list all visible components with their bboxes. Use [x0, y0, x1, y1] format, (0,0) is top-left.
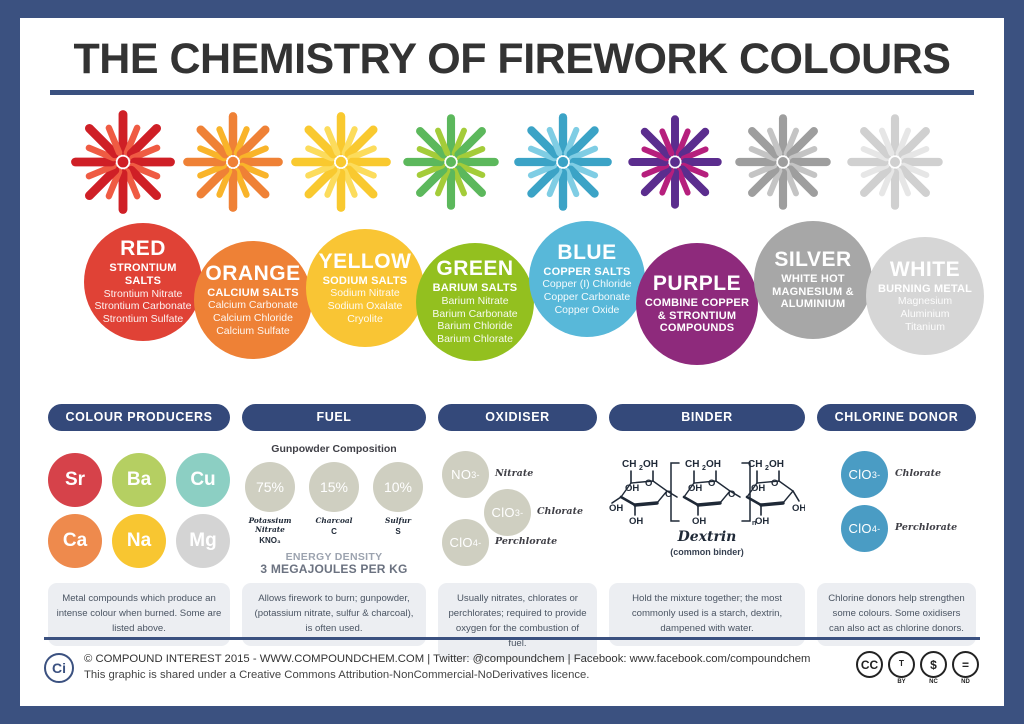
molecule-name: Dextrin — [609, 529, 805, 545]
oxidiser-ion-label: Nitrate — [495, 468, 533, 479]
infographic-sheet: THE CHEMISTRY OF FIREWORK COLOURS REDSTR… — [20, 18, 1004, 706]
panel-chlorine-donor: CHLORINE DONOR ClO3-ChlorateClO4-Perchlo… — [817, 404, 976, 660]
panel-colour-producers: COLOUR PRODUCERS SrBaCuCaNaMg Metal comp… — [48, 404, 230, 660]
firework-burst-green-icon — [397, 108, 506, 217]
gunpowder-component: 15%CharcoalC — [306, 462, 362, 545]
element-circle-sr[interactable]: Sr — [48, 453, 102, 507]
firework-bursts-row — [24, 99, 1000, 227]
footer-divider — [44, 637, 980, 640]
svg-text:O: O — [645, 478, 652, 489]
firework-burst-yellow-icon — [284, 105, 397, 218]
colour-bubble-subtitle: COMBINE COPPER & STRONTIUM COMPOUNDS — [642, 297, 752, 335]
panel-body-chlorine-donor: ClO3-ChlorateClO4-Perchlorate — [817, 437, 976, 583]
firework-burst-red-icon — [64, 103, 182, 221]
colour-bubble-compounds: Calcium CarbonateCalcium ChlorideCalcium… — [208, 299, 298, 337]
svg-text:OH: OH — [792, 503, 805, 514]
colour-bubble-silver[interactable]: SILVERWHITE HOT MAGNESIUM & ALUMINIUM — [754, 221, 872, 339]
panel-heading-fuel: FUEL — [242, 404, 426, 431]
gunpowder-percent: 10% — [373, 462, 423, 512]
element-circle-ca[interactable]: Ca — [48, 514, 102, 568]
panel-body-oxidiser: NO3-NitrateClO3-ChlorateClO4-Perchlorate — [438, 437, 597, 583]
colour-bubble-compounds: Strontium NitrateStrontium CarbonateStro… — [95, 288, 192, 326]
gunpowder-name: Sulfur — [370, 516, 426, 525]
molecule-caption: (common binder) — [609, 547, 805, 557]
firework-burst-orange-icon — [176, 105, 289, 218]
element-circle-mg[interactable]: Mg — [176, 514, 230, 568]
cc-badge: CC — [855, 651, 884, 679]
svg-text:O: O — [728, 489, 735, 500]
title-divider — [50, 90, 974, 95]
colour-bubble-compounds: Copper (I) ChlorideCopper CarbonateCoppe… — [542, 278, 631, 316]
colour-bubble-name: YELLOW — [319, 251, 412, 272]
svg-text:OH: OH — [625, 483, 639, 494]
panel-binder: BINDER — [609, 404, 805, 660]
oxidiser-ion-chlorate[interactable]: ClO3- — [484, 489, 531, 536]
gunpowder-formula: S — [370, 527, 426, 536]
creative-commons-badges: CCᵀBY$NC=ND — [855, 651, 980, 685]
colour-bubble-subtitle: WHITE HOT MAGNESIUM & ALUMINIUM — [760, 273, 866, 311]
page-title: THE CHEMISTRY OF FIREWORK COLOURS — [46, 38, 978, 81]
svg-text:O: O — [708, 478, 715, 489]
energy-density-value: 3 MEGAJOULES PER KG — [242, 563, 426, 577]
colour-bubble-red[interactable]: REDSTRONTIUM SALTSStrontium NitrateStron… — [84, 223, 202, 341]
svg-text:OH: OH — [751, 483, 765, 494]
footer-text: © COMPOUND INTEREST 2015 - WWW.COMPOUNDC… — [84, 652, 845, 684]
oxidiser-ion-perchlorate[interactable]: ClO4- — [442, 519, 489, 566]
firework-burst-blue-icon — [508, 107, 619, 218]
panel-heading-colour-producers: COLOUR PRODUCERS — [48, 404, 230, 431]
panel-fuel: FUEL Gunpowder Composition 75%Potassium … — [242, 404, 426, 660]
colour-bubble-purple[interactable]: PURPLECOMBINE COPPER & STRONTIUM COMPOUN… — [636, 243, 758, 365]
colour-bubble-name: BLUE — [557, 242, 616, 263]
gunpowder-percent: 75% — [245, 462, 295, 512]
oxidiser-ion-nitrate[interactable]: NO3- — [442, 451, 489, 498]
gunpowder-composition-title: Gunpowder Composition — [242, 443, 426, 455]
gunpowder-component: 10%SulfurS — [370, 462, 426, 545]
title-section: THE CHEMISTRY OF FIREWORK COLOURS — [24, 22, 1000, 95]
chlorine-donor-ion-chlorate[interactable]: ClO3- — [841, 451, 888, 498]
panel-heading-binder: BINDER — [609, 404, 805, 431]
gunpowder-formula: C — [306, 527, 362, 536]
svg-text:OH: OH — [769, 459, 784, 470]
svg-text:OH: OH — [706, 459, 721, 470]
panel-body-binder: CH2OH CH2OH CH2OH O O O OH OH OH OH OH O… — [609, 437, 805, 583]
svg-text:OH: OH — [755, 516, 769, 527]
element-circle-grid: SrBaCuCaNaMg — [48, 437, 230, 568]
cc-badge-caption: BY — [887, 679, 916, 685]
colour-bubble-green[interactable]: GREENBARIUM SALTSBarium NitrateBarium Ca… — [416, 243, 534, 361]
element-circle-na[interactable]: Na — [112, 514, 166, 568]
colour-bubble-compounds: Barium NitrateBarium CarbonateBarium Chl… — [432, 295, 517, 345]
panel-body-fuel: Gunpowder Composition 75%Potassium Nitra… — [242, 437, 426, 583]
colour-bubble-blue[interactable]: BLUECOPPER SALTSCopper (I) ChlorideCoppe… — [529, 221, 645, 337]
panel-heading-chlorine-donor: CHLORINE DONOR — [817, 404, 976, 431]
cc-badge-glyph: = — [952, 651, 979, 678]
colour-bubble-name: RED — [120, 238, 166, 259]
colour-bubble-name: GREEN — [436, 258, 513, 279]
footer-licence-line: This graphic is shared under a Creative … — [84, 668, 845, 684]
chlorine-donor-ion-perchlorate[interactable]: ClO4- — [841, 505, 888, 552]
gunpowder-percent: 15% — [309, 462, 359, 512]
colour-bubble-subtitle: COPPER SALTS — [543, 266, 630, 279]
colour-bubble-name: WHITE — [890, 259, 960, 280]
panel-heading-oxidiser: OXIDISER — [438, 404, 597, 431]
firework-burst-silver-icon — [729, 108, 838, 217]
gunpowder-formula: KNO₃ — [242, 536, 298, 545]
svg-text:O: O — [771, 478, 778, 489]
svg-text:O: O — [665, 489, 672, 500]
panel-oxidiser: OXIDISER NO3-NitrateClO3-ChlorateClO4-Pe… — [438, 404, 597, 660]
cc-badge-glyph: $ — [920, 651, 947, 678]
colour-bubble-yellow[interactable]: YELLOWSODIUM SALTSSodium NitrateSodium O… — [306, 229, 424, 347]
svg-text:OH: OH — [609, 503, 623, 514]
colour-bubble-compounds: MagnesiumAluminiumTitanium — [898, 295, 952, 333]
colour-bubble-subtitle: CALCIUM SALTS — [207, 287, 299, 300]
svg-text:OH: OH — [688, 483, 702, 494]
svg-text:OH: OH — [643, 459, 658, 470]
cc-badge-glyph: CC — [856, 651, 883, 678]
gunpowder-name: Potassium Nitrate — [242, 516, 298, 534]
cc-badge-caption: ND — [951, 679, 980, 685]
gunpowder-name: Charcoal — [306, 516, 362, 525]
colour-bubble-white[interactable]: WHITEBURNING METALMagnesiumAluminiumTita… — [866, 237, 984, 355]
element-circle-ba[interactable]: Ba — [112, 453, 166, 507]
cc-badge-nc: $NC — [919, 651, 948, 685]
svg-text:CH: CH — [685, 459, 699, 470]
panel-body-colour-producers: SrBaCuCaNaMg — [48, 437, 230, 583]
svg-text:CH: CH — [622, 459, 636, 470]
cc-badge-by: ᵀBY — [887, 651, 916, 685]
colour-bubble-orange[interactable]: ORANGECALCIUM SALTSCalcium CarbonateCalc… — [194, 241, 312, 359]
components-panels: COLOUR PRODUCERS SrBaCuCaNaMg Metal comp… — [48, 404, 976, 660]
gunpowder-component: 75%Potassium NitrateKNO₃ — [242, 462, 298, 545]
cc-badge-nd: =ND — [951, 651, 980, 685]
element-circle-cu[interactable]: Cu — [176, 453, 230, 507]
colour-bubble-name: PURPLE — [653, 273, 741, 294]
svg-text:n: n — [752, 520, 756, 527]
cc-badge-caption: NC — [919, 679, 948, 685]
energy-density: ENERGY DENSITY 3 MEGAJOULES PER KG — [242, 551, 426, 577]
colour-bubbles-row: REDSTRONTIUM SALTSStrontium NitrateStron… — [24, 221, 1000, 371]
svg-text:CH: CH — [748, 459, 762, 470]
chlorine-donor-ion-label: Chlorate — [895, 468, 941, 479]
firework-burst-purple-icon — [622, 109, 728, 215]
colour-bubble-name: SILVER — [774, 249, 851, 270]
colour-bubble-subtitle: SODIUM SALTS — [323, 275, 408, 288]
poster-background: THE CHEMISTRY OF FIREWORK COLOURS REDSTR… — [0, 0, 1024, 724]
oxidiser-ion-label: Perchlorate — [495, 536, 557, 547]
colour-bubble-subtitle: BARIUM SALTS — [433, 282, 518, 295]
footer-credit-line: © COMPOUND INTEREST 2015 - WWW.COMPOUNDC… — [84, 652, 845, 668]
colour-bubble-compounds: Sodium NitrateSodium OxalateCryolite — [328, 287, 403, 325]
colour-bubble-subtitle: STRONTIUM SALTS — [90, 262, 196, 287]
dextrin-structure-icon: CH2OH CH2OH CH2OH O O O OH OH OH OH OH O… — [609, 441, 805, 527]
colour-bubble-name: ORANGE — [205, 263, 300, 284]
colour-bubble-subtitle: BURNING METAL — [878, 283, 972, 296]
svg-text:OH: OH — [629, 516, 643, 527]
svg-text:OH: OH — [692, 516, 706, 527]
gunpowder-components: 75%Potassium NitrateKNO₃15%CharcoalC10%S… — [242, 462, 426, 545]
oxidiser-ion-label: Chlorate — [537, 506, 583, 517]
footer: Ci © COMPOUND INTEREST 2015 - WWW.COMPOU… — [44, 644, 980, 692]
compound-interest-logo: Ci — [44, 653, 74, 683]
firework-burst-white-icon — [841, 108, 950, 217]
cc-badge-glyph: ᵀ — [888, 651, 915, 678]
chlorine-donor-ion-label: Perchlorate — [895, 522, 957, 533]
